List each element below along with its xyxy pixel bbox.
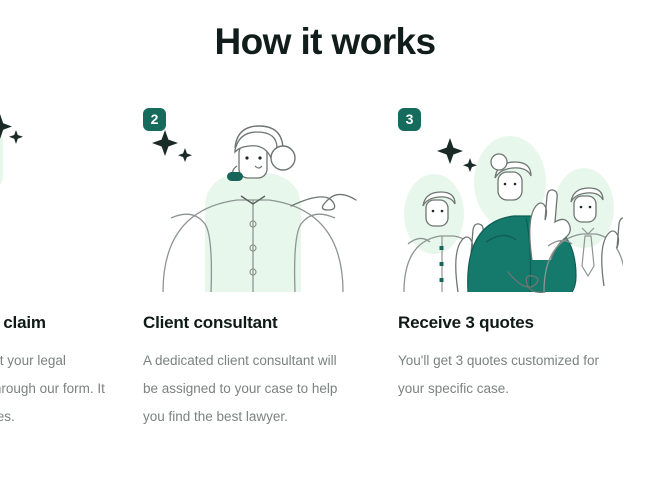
step-card-3[interactable]: 3	[398, 96, 650, 403]
step-heading-1: Describe your claim	[0, 312, 113, 334]
step-body-2: A dedicated client consultant will be as…	[143, 347, 361, 431]
how-it-works-section: How it works 1	[0, 0, 650, 500]
steps-carousel[interactable]: 1	[0, 96, 650, 496]
step-body-1: Tell us briefly about your legal issue a…	[0, 347, 106, 431]
step-body-3: You'll get 3 quotes customized for your …	[398, 347, 616, 403]
three-people-thumbs-up-icon	[398, 96, 623, 296]
step-heading-3: Receive 3 quotes	[398, 312, 623, 334]
step-body-line: Tell us briefly about your legal	[0, 347, 106, 375]
step-card-2[interactable]: 2	[143, 96, 398, 431]
form-card-with-hand-icon	[0, 96, 113, 296]
step-heading-2: Client consultant	[143, 312, 368, 334]
step-body-line: only takes 2 minutes.	[0, 403, 106, 431]
step-illustration-2	[143, 96, 368, 296]
step-badge-3: 3	[398, 108, 421, 131]
step-illustration-1	[0, 96, 113, 296]
step-body-line: you find the best lawyer.	[143, 403, 361, 431]
step-badge-2: 2	[143, 108, 166, 131]
step-body-line: A dedicated client consultant will	[143, 347, 361, 375]
page-title: How it works	[0, 20, 650, 64]
step-body-line: be assigned to your case to help	[143, 375, 361, 403]
step-body-line: your specific case.	[398, 375, 616, 403]
step-illustration-3	[398, 96, 623, 296]
step-body-line: You'll get 3 quotes customized for	[398, 347, 616, 375]
step-body-line: issue and needs through our form. It	[0, 375, 106, 403]
step-card-1[interactable]: 1	[0, 96, 143, 431]
consultant-with-headset-icon	[143, 96, 368, 296]
